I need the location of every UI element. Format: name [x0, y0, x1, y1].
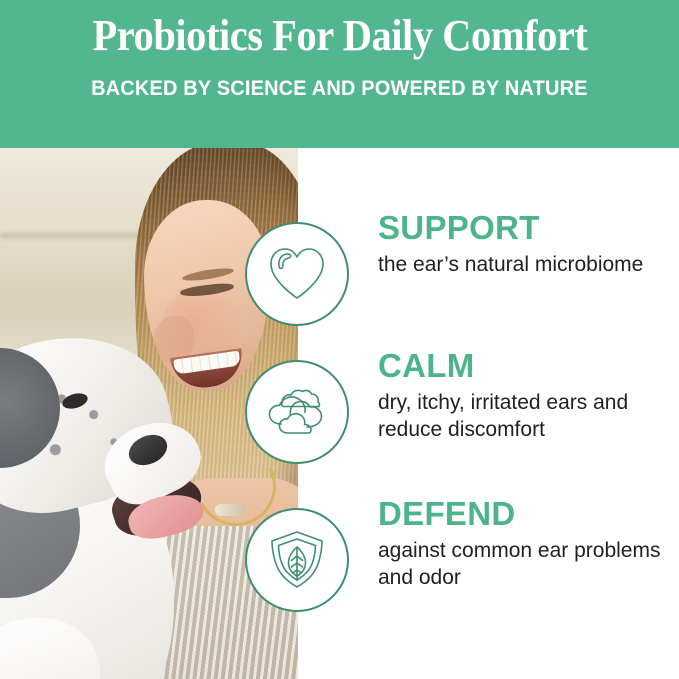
feature-description: dry, itchy, irritated ears and reduce di… [378, 390, 670, 444]
feature-description: the ear’s natural microbiome [378, 252, 670, 279]
photo-necklace-bead [215, 504, 245, 516]
feature-text-defend: DEFEND against common ear problems and o… [378, 497, 674, 592]
heart-icon [245, 222, 349, 326]
feature-title: CALM [378, 349, 674, 382]
feature-text-support: SUPPORT the ear’s natural microbiome [378, 211, 674, 279]
banner-header: Probiotics For Daily Comfort BACKED BY S… [0, 0, 679, 148]
feature-title: DEFEND [378, 497, 674, 530]
cloud-icon [245, 360, 349, 464]
product-feature-banner: Probiotics For Daily Comfort BACKED BY S… [0, 0, 679, 679]
feature-text-calm: CALM dry, itchy, irritated ears and redu… [378, 349, 674, 444]
feature-title: SUPPORT [378, 211, 674, 244]
page-title: Probiotics For Daily Comfort [92, 14, 587, 59]
shield-leaf-icon [245, 508, 349, 612]
feature-list: SUPPORT the ear’s natural microbiome CAL… [298, 148, 679, 679]
page-subtitle: BACKED BY SCIENCE AND POWERED BY NATURE [91, 77, 588, 101]
feature-description: against common ear problems and odor [378, 538, 670, 592]
